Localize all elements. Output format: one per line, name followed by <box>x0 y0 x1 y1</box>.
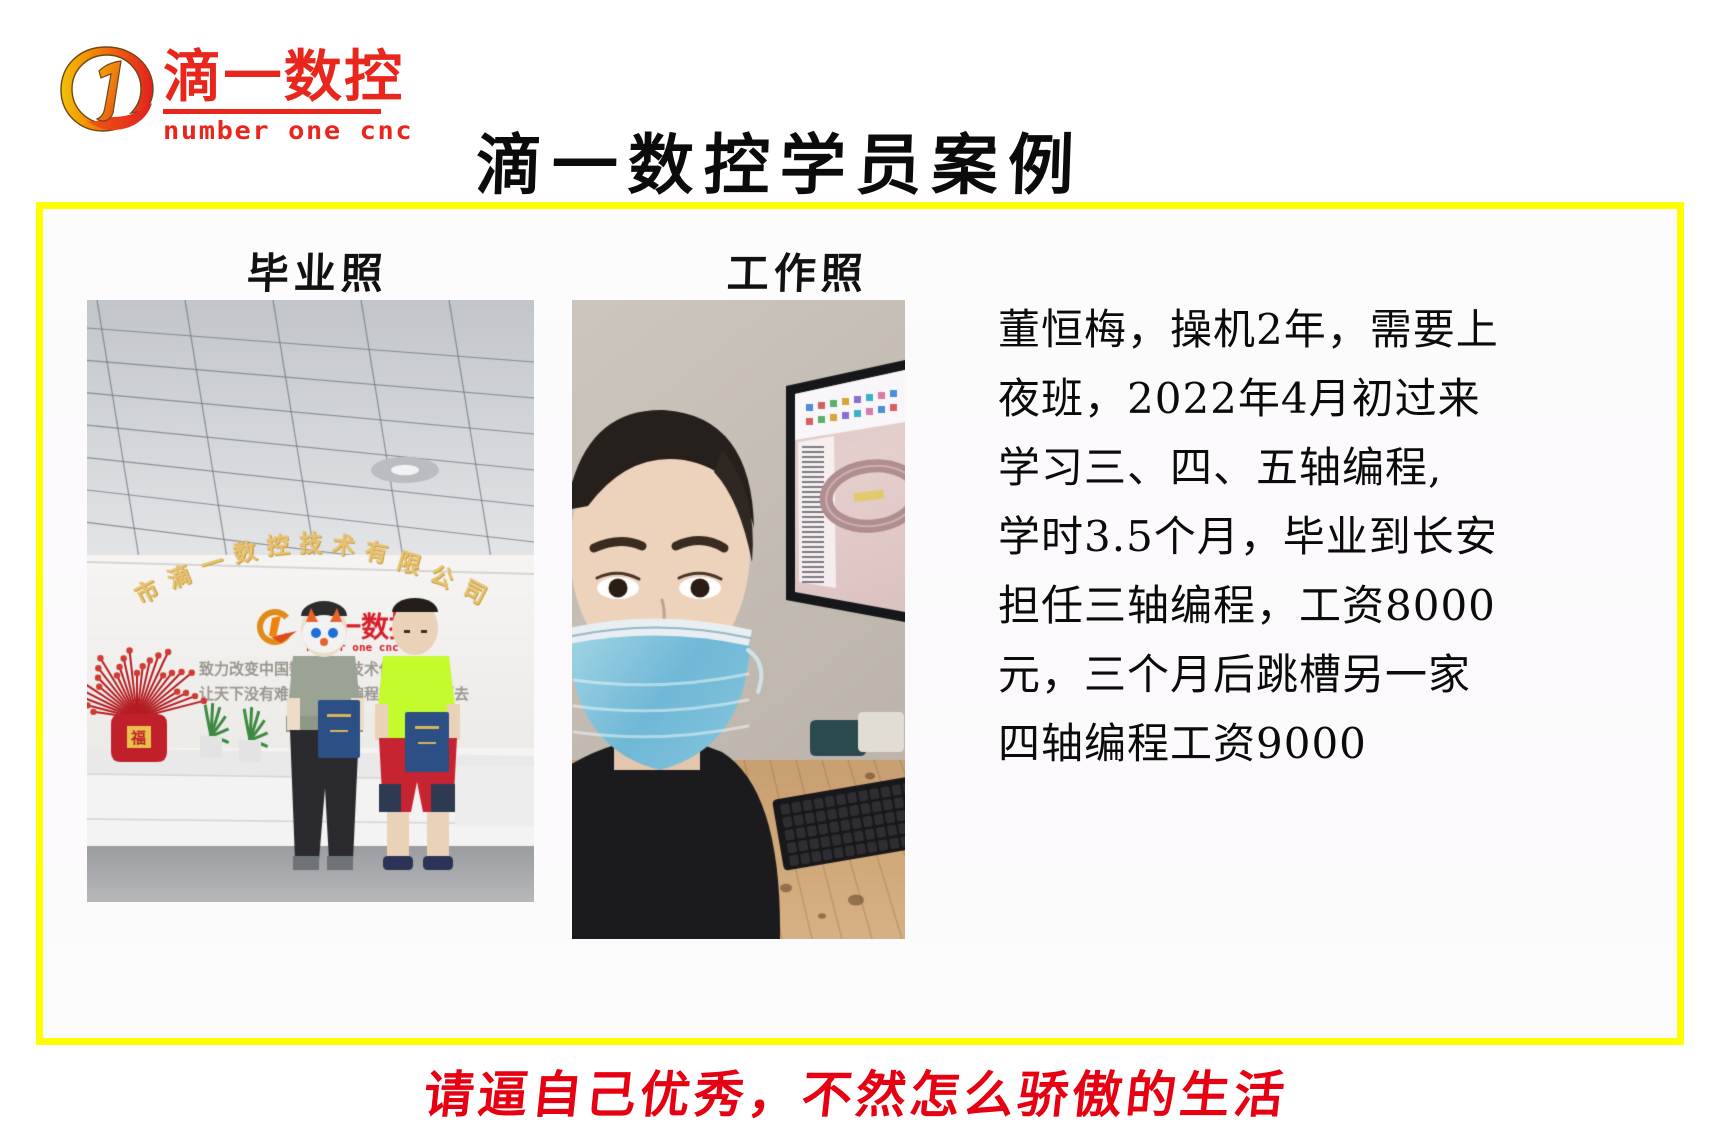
page-title: 滴一数控学员案例 <box>474 112 1085 208</box>
footer-slogan: 请逼自己优秀，不然怎么骄傲的生活 <box>0 1055 1713 1127</box>
case-text-line: 董恒梅，操机2年，需要上 <box>998 295 1628 364</box>
student-case-text: 董恒梅，操机2年，需要上夜班，2022年4月初过来学习三、四、五轴编程,学时3.… <box>998 295 1628 778</box>
case-text-line: 担任三轴编程，工资8000 <box>998 571 1628 640</box>
brand-name-cn: 滴一数控 <box>163 50 404 106</box>
work-photo-caption: 工作照 <box>726 240 869 301</box>
brand-logo: 滴一数控 number one cnc <box>55 38 395 143</box>
case-text-line: 四轴编程工资9000 <box>998 709 1628 778</box>
number-one-cnc-swoosh-logo-icon <box>55 41 157 141</box>
work-photo <box>572 300 905 939</box>
case-text-line: 夜班，2022年4月初过来 <box>998 364 1628 433</box>
brand-name-en: number one cnc <box>163 118 414 143</box>
page-header: 滴一数控 number one cnc 滴一数控学员案例 <box>0 0 1713 200</box>
content-frame: 毕业照 工作照 董恒梅，操机2年，需要上夜班，2022年4月初过来学习三、四、五… <box>36 202 1684 1045</box>
graduation-photo <box>87 300 534 902</box>
graduation-photo-caption: 毕业照 <box>246 240 389 301</box>
case-text-line: 学时3.5个月，毕业到长安 <box>998 502 1628 571</box>
brand-wordmark: 滴一数控 number one cnc <box>163 38 395 143</box>
case-text-line: 学习三、四、五轴编程, <box>998 433 1628 502</box>
case-text-line: 元，三个月后跳槽另一家 <box>998 640 1628 709</box>
